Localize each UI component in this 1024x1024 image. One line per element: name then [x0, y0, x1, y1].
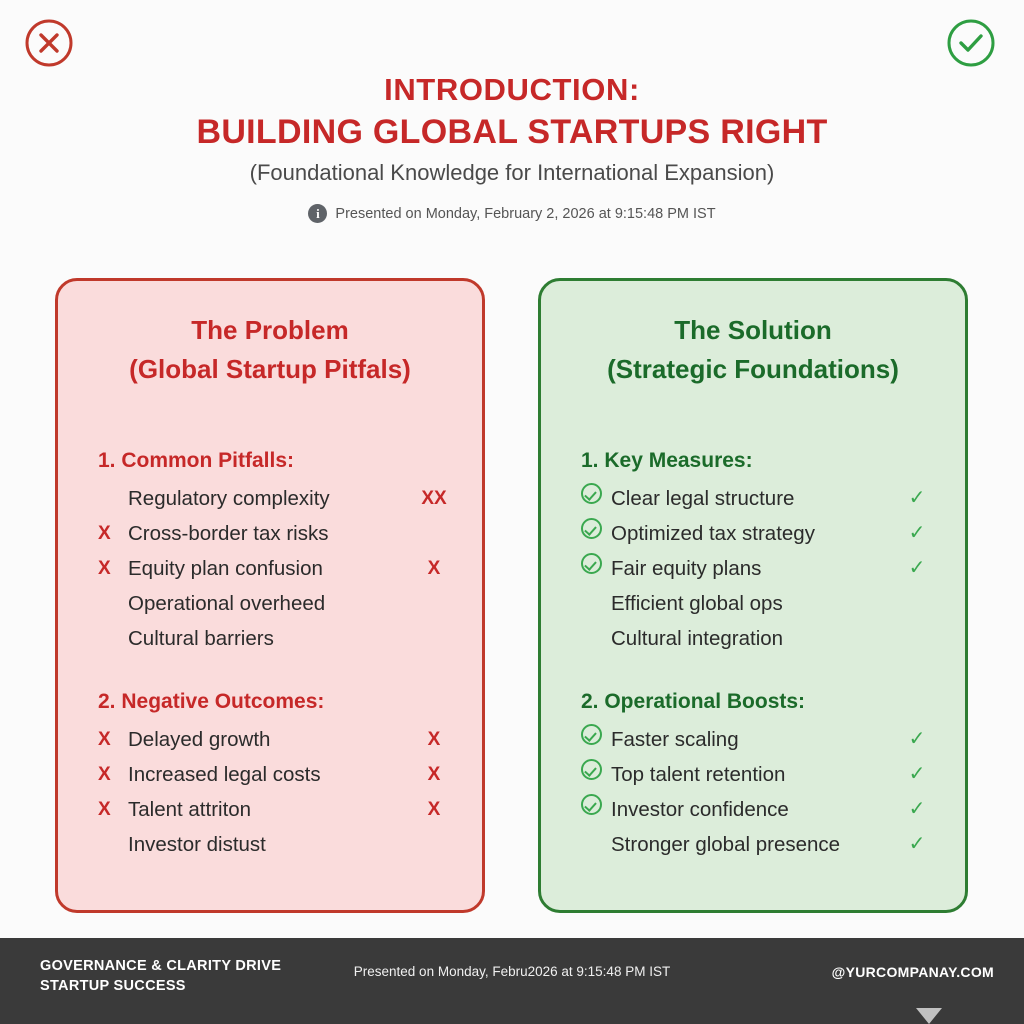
list-item: Cultural integration: [581, 621, 937, 656]
x-mark-icon: X: [98, 516, 128, 551]
presented-timestamp: Presented on Monday, February 2, 2026 at…: [335, 206, 715, 222]
trailing-x-mark-icon: X: [414, 757, 454, 792]
trailing-check-icon: ✓: [897, 481, 937, 516]
list-item: X Increased legal costs X: [98, 757, 454, 792]
list-item: X Cross-border tax risks: [98, 516, 454, 551]
trailing-check-icon: ✓: [897, 792, 937, 827]
x-mark-icon: X: [98, 722, 128, 757]
problem-card-title: The Problem (Global Startup Pitfals): [58, 281, 482, 389]
check-badge-icon: [581, 481, 611, 516]
check-badge-icon: [581, 757, 611, 792]
presented-row: i Presented on Monday, February 2, 2026 …: [0, 204, 1024, 223]
solution-card-title-line2: (Strategic Foundations): [541, 350, 965, 389]
trailing-x-mark-icon: X: [414, 792, 454, 827]
list-item-label: Fair equity plans: [611, 551, 897, 586]
x-mark-icon: X: [98, 551, 128, 586]
trailing-x-mark-icon: XX: [414, 481, 454, 516]
list-item-label: Delayed growth: [128, 722, 414, 757]
list-item: Fair equity plans ✓: [581, 551, 937, 586]
problem-section-1-list: Regulatory complexity XX X Cross-border …: [98, 481, 454, 656]
check-circle-icon: [946, 18, 996, 68]
trailing-check-icon: ✓: [897, 827, 937, 862]
slide-header: INTRODUCTION: BUILDING GLOBAL STARTUPS R…: [0, 70, 1024, 223]
trailing-check-icon: ✓: [897, 551, 937, 586]
problem-section-1: 1. Common Pitfalls: Regulatory complexit…: [58, 449, 482, 656]
list-item-label: Investor distust: [128, 827, 414, 862]
list-item: Investor distust: [98, 827, 454, 862]
trailing-check-icon: ✓: [897, 516, 937, 551]
check-badge-icon: [581, 792, 611, 827]
x-circle-icon: [24, 18, 74, 68]
problem-card-title-line2: (Global Startup Pitfals): [58, 350, 482, 389]
list-item: Clear legal structure ✓: [581, 481, 937, 516]
list-item-label: Cross-border tax risks: [128, 516, 414, 551]
list-item-label: Equity plan confusion: [128, 551, 414, 586]
list-item-label: Top talent retention: [611, 757, 897, 792]
list-item-label: Faster scaling: [611, 722, 897, 757]
list-item: Faster scaling ✓: [581, 722, 937, 757]
problem-section-2: 2. Negative Outcomes: X Delayed growth X…: [58, 690, 482, 862]
footer-notch-shape: [916, 1008, 942, 1024]
trailing-x-mark-icon: X: [414, 551, 454, 586]
footer-tagline-line2: STARTUP SUCCESS: [40, 976, 281, 996]
list-item-label: Efficient global ops: [611, 586, 897, 621]
list-item-label: Optimized tax strategy: [611, 516, 897, 551]
slide-canvas: INTRODUCTION: BUILDING GLOBAL STARTUPS R…: [0, 0, 1024, 1024]
x-mark-icon: X: [98, 792, 128, 827]
x-mark-icon: X: [98, 757, 128, 792]
solution-section-2-list: Faster scaling ✓ Top talent retention ✓ …: [581, 722, 937, 862]
list-item-label: Regulatory complexity: [128, 481, 414, 516]
solution-card-title: The Solution (Strategic Foundations): [541, 281, 965, 389]
list-item: Efficient global ops: [581, 586, 937, 621]
check-badge-icon: [581, 551, 611, 586]
list-item: X Talent attriton X: [98, 792, 454, 827]
solution-card: The Solution (Strategic Foundations) 1. …: [538, 278, 968, 913]
list-item-label: Clear legal structure: [611, 481, 897, 516]
list-item: Cultural barriers: [98, 621, 454, 656]
list-item: Stronger global presence ✓: [581, 827, 937, 862]
list-item: Top talent retention ✓: [581, 757, 937, 792]
trailing-check-icon: ✓: [897, 757, 937, 792]
page-title-line2: BUILDING GLOBAL STARTUPS RIGHT: [0, 110, 1024, 154]
trailing-x-mark-icon: X: [414, 722, 454, 757]
solution-section-2: 2. Operational Boosts: Faster scaling ✓ …: [541, 690, 965, 862]
list-item: Investor confidence ✓: [581, 792, 937, 827]
list-item: X Delayed growth X: [98, 722, 454, 757]
list-item-label: Investor confidence: [611, 792, 897, 827]
list-item-label: Stronger global presence: [611, 827, 897, 862]
problem-card-title-line1: The Problem: [58, 311, 482, 350]
solution-section-2-heading: 2. Operational Boosts:: [581, 690, 937, 714]
list-item-label: Increased legal costs: [128, 757, 414, 792]
problem-section-1-heading: 1. Common Pitfalls:: [98, 449, 454, 473]
page-subtitle: (Foundational Knowledge for Internationa…: [0, 156, 1024, 190]
info-icon: i: [308, 204, 327, 223]
solution-card-title-line1: The Solution: [541, 311, 965, 350]
trailing-check-icon: ✓: [897, 722, 937, 757]
solution-section-1-heading: 1. Key Measures:: [581, 449, 937, 473]
check-badge-icon: [581, 722, 611, 757]
page-title-line1: INTRODUCTION:: [0, 70, 1024, 110]
problem-section-2-heading: 2. Negative Outcomes:: [98, 690, 454, 714]
list-item-label: Talent attriton: [128, 792, 414, 827]
problem-section-2-list: X Delayed growth X X Increased legal cos…: [98, 722, 454, 862]
list-item: Regulatory complexity XX: [98, 481, 454, 516]
list-item-label: Cultural integration: [611, 621, 897, 656]
check-badge-icon: [581, 516, 611, 551]
solution-section-1-list: Clear legal structure ✓ Optimized tax st…: [581, 481, 937, 656]
footer-company-handle: @YURCOMPANAY.COM: [832, 964, 994, 980]
list-item: Operational overheed: [98, 586, 454, 621]
list-item-label: Operational overheed: [128, 586, 414, 621]
list-item: X Equity plan confusion X: [98, 551, 454, 586]
list-item: Optimized tax strategy ✓: [581, 516, 937, 551]
footer-bar: GOVERNANCE & CLARITY DRIVE STARTUP SUCCE…: [0, 938, 1024, 1024]
list-item-label: Cultural barriers: [128, 621, 414, 656]
problem-card: The Problem (Global Startup Pitfals) 1. …: [55, 278, 485, 913]
solution-section-1: 1. Key Measures: Clear legal structure ✓…: [541, 449, 965, 656]
